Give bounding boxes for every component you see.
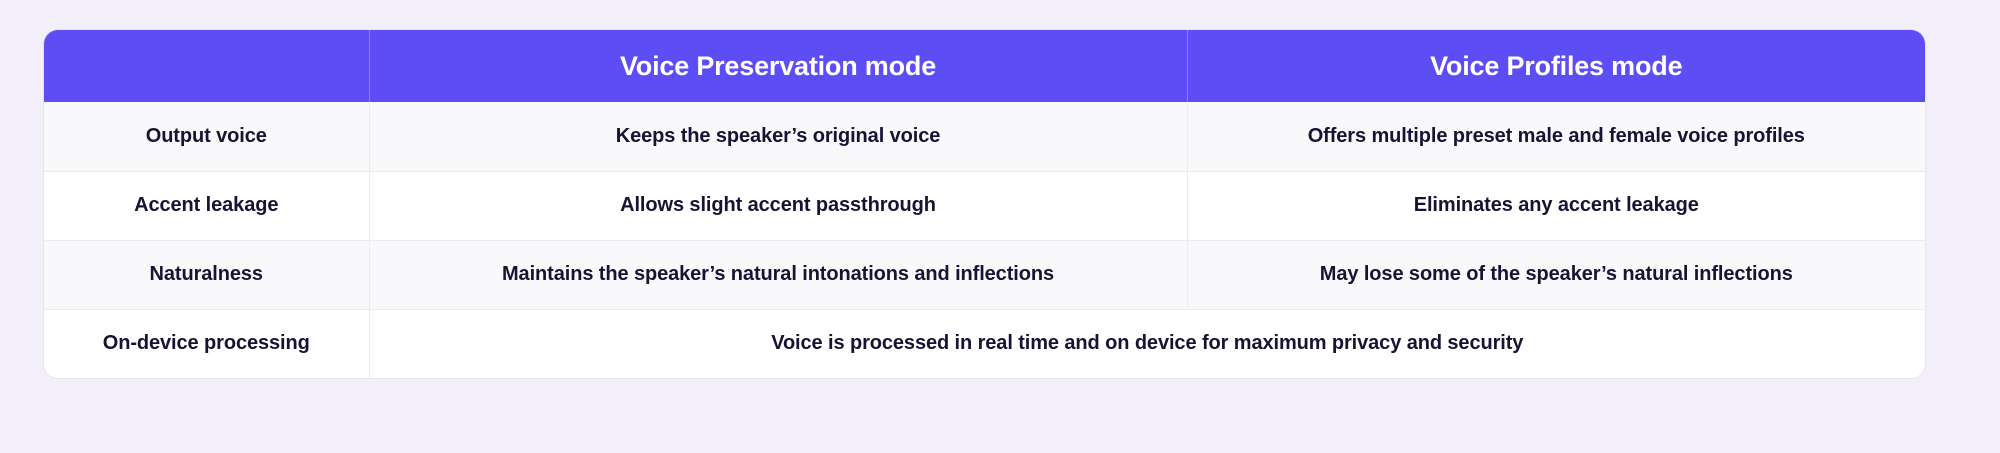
page-root: Voice Preservation mode Voice Profiles m… (0, 0, 2000, 453)
header-cell-voice-preservation-mode: Voice Preservation mode (369, 30, 1187, 102)
cell-accent-leakage-profiles: Eliminates any accent leakage (1187, 171, 1925, 240)
row-label-on-device-processing: On-device processing (44, 309, 369, 378)
cell-accent-leakage-preservation: Allows slight accent passthrough (369, 171, 1187, 240)
cell-output-voice-preservation: Keeps the speaker’s original voice (369, 102, 1187, 171)
row-label-accent-leakage: Accent leakage (44, 171, 369, 240)
table-body: Output voice Keeps the speaker’s origina… (44, 102, 1925, 378)
comparison-table-container: Voice Preservation mode Voice Profiles m… (44, 30, 1925, 378)
row-label-naturalness: Naturalness (44, 240, 369, 309)
header-row: Voice Preservation mode Voice Profiles m… (44, 30, 1925, 102)
table-row: Accent leakage Allows slight accent pass… (44, 171, 1925, 240)
table-row: Naturalness Maintains the speaker’s natu… (44, 240, 1925, 309)
cell-on-device-processing-merged: Voice is processed in real time and on d… (369, 309, 1925, 378)
row-label-output-voice: Output voice (44, 102, 369, 171)
comparison-table: Voice Preservation mode Voice Profiles m… (44, 30, 1925, 378)
cell-naturalness-profiles: May lose some of the speaker’s natural i… (1187, 240, 1925, 309)
table-header: Voice Preservation mode Voice Profiles m… (44, 30, 1925, 102)
cell-output-voice-profiles: Offers multiple preset male and female v… (1187, 102, 1925, 171)
header-cell-voice-profiles-mode: Voice Profiles mode (1187, 30, 1925, 102)
table-row: Output voice Keeps the speaker’s origina… (44, 102, 1925, 171)
cell-naturalness-preservation: Maintains the speaker’s natural intonati… (369, 240, 1187, 309)
table-row: On-device processing Voice is processed … (44, 309, 1925, 378)
header-cell-corner (44, 30, 369, 102)
